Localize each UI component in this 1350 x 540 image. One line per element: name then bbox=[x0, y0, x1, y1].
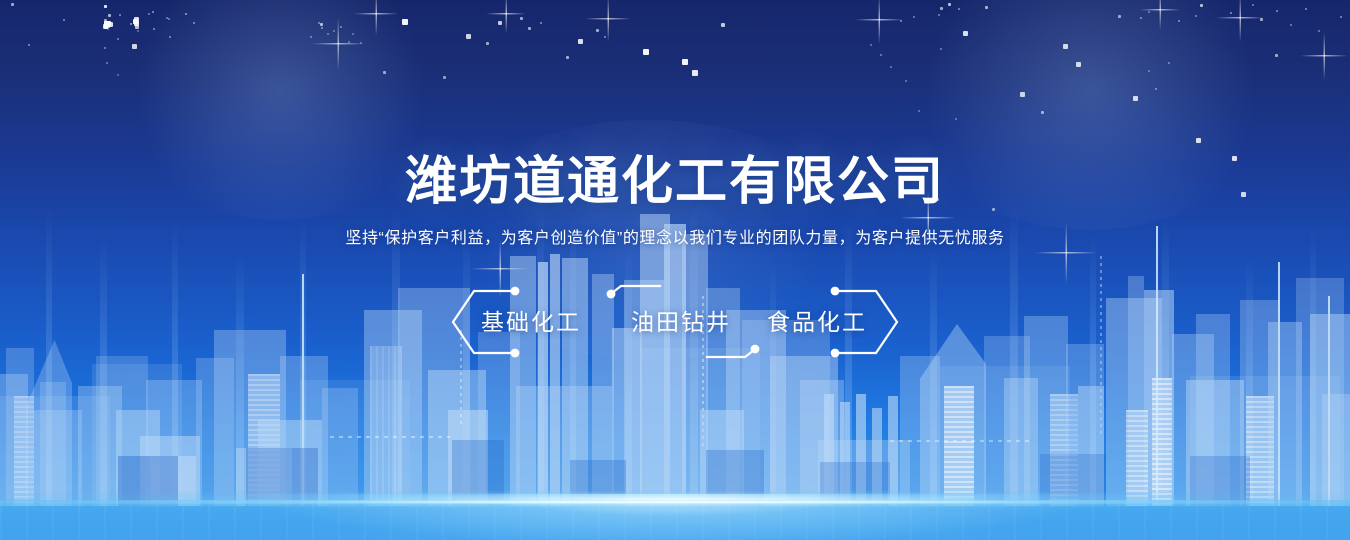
category-tag-basic-chemicals[interactable]: 基础化工 bbox=[481, 283, 581, 361]
bracket-dot bbox=[607, 290, 616, 299]
hero-subtitle: 坚持“保护客户利益，为客户创造价值”的理念以我们专业的团队力量，为客户提供无忧服… bbox=[0, 224, 1350, 248]
hero-content: 潍坊道通化工有限公司 坚持“保护客户利益，为客户创造价值”的理念以我们专业的团队… bbox=[0, 0, 1350, 540]
hero-banner: 潍坊道通化工有限公司 坚持“保护客户利益，为客户创造价值”的理念以我们专业的团队… bbox=[0, 0, 1350, 540]
category-tag-oilfield-drilling[interactable]: 油田钻井 bbox=[631, 283, 731, 361]
category-tag-food-chemicals[interactable]: 食品化工 bbox=[767, 283, 867, 361]
bracket-dot bbox=[751, 345, 760, 354]
page-title: 潍坊道通化工有限公司 bbox=[0, 139, 1350, 214]
category-tag-group: 基础化工 油田钻井 食品化工 bbox=[0, 283, 1350, 361]
